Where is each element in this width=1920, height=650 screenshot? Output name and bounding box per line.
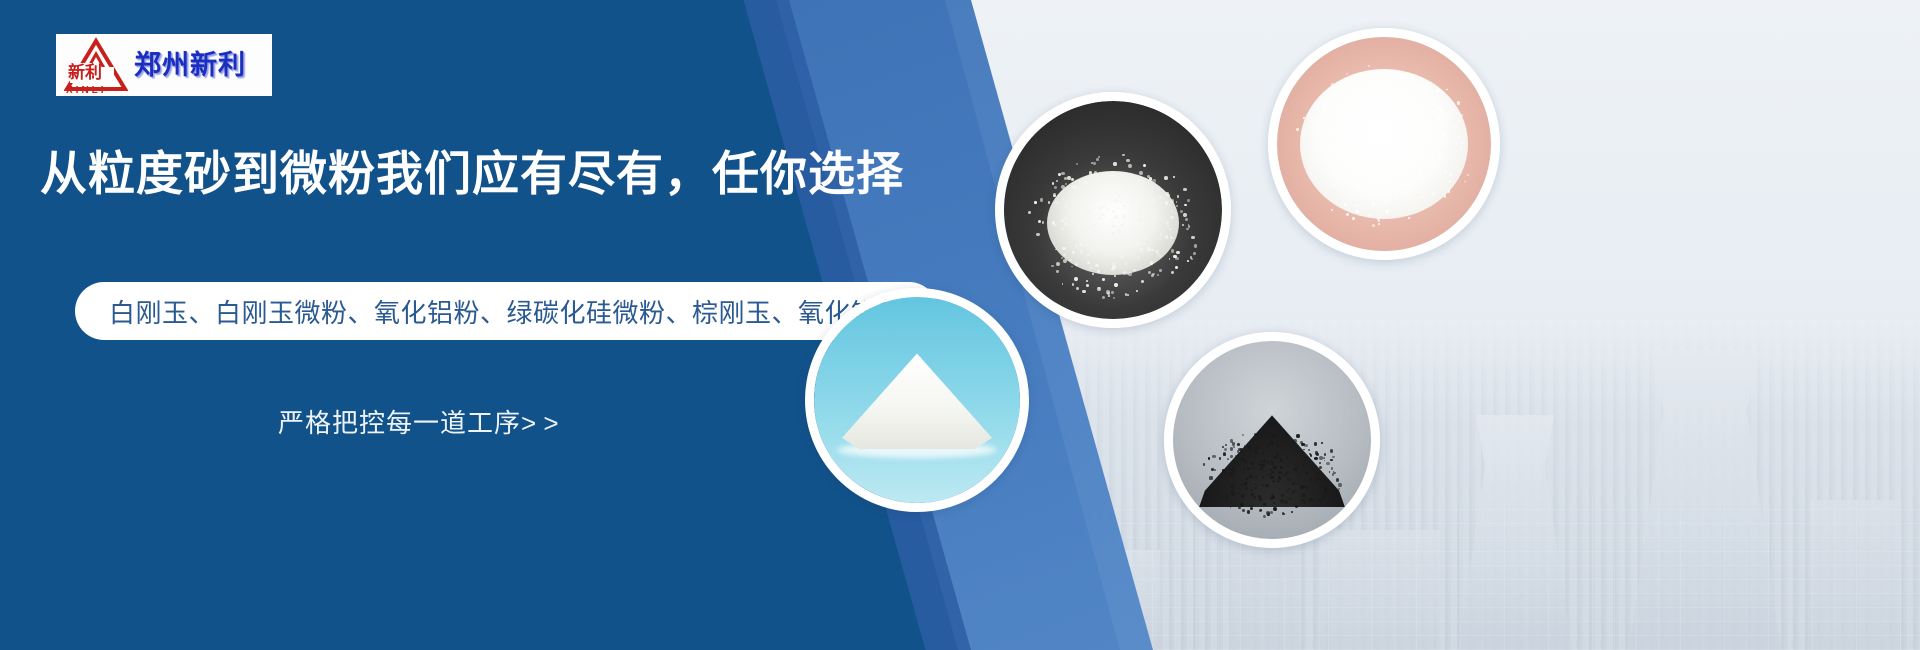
triangle-logo-icon: 新利 XINLI <box>64 37 128 93</box>
product-photo-inner <box>814 297 1020 503</box>
product-photo-white-powder-cone[interactable] <box>805 288 1029 512</box>
product-photo-inner <box>1173 341 1371 539</box>
product-photo-black-silicon-carbide[interactable] <box>1164 332 1380 548</box>
promo-banner: 新利 XINLI 郑州新利 从粒度砂到微粉我们应有尽有，任你选择 白刚玉、白刚玉… <box>0 0 1920 650</box>
subline-cta[interactable]: 严格把控每一道工序> > <box>278 403 559 440</box>
granule-specks <box>1173 341 1371 539</box>
company-name: 郑州新利 <box>134 52 246 79</box>
product-photo-inner <box>1004 101 1222 319</box>
product-photo-white-quartz-sand[interactable] <box>995 92 1231 328</box>
product-list-text: 白刚玉、白刚玉微粉、氧化铝粉、绿碳化硅微粉、棕刚玉、氧化锆等 <box>109 293 904 330</box>
logo-pinyin-text: XINLI <box>66 85 107 96</box>
chevron-right-icon: > > <box>521 408 559 438</box>
logo-mark-text: 新利 <box>68 63 102 82</box>
product-photo-white-alumina-powder[interactable] <box>1268 28 1500 260</box>
subline-text: 严格把控每一道工序 <box>278 408 521 438</box>
product-list-pill[interactable]: 白刚玉、白刚玉微粉、氧化铝粉、绿碳化硅微粉、棕刚玉、氧化锆等 <box>75 282 938 340</box>
product-photo-inner <box>1277 37 1491 251</box>
company-logo[interactable]: 新利 XINLI 郑州新利 <box>56 34 272 96</box>
headline: 从粒度砂到微粉我们应有尽有，任你选择 <box>40 148 904 200</box>
powder-cone <box>842 353 992 449</box>
